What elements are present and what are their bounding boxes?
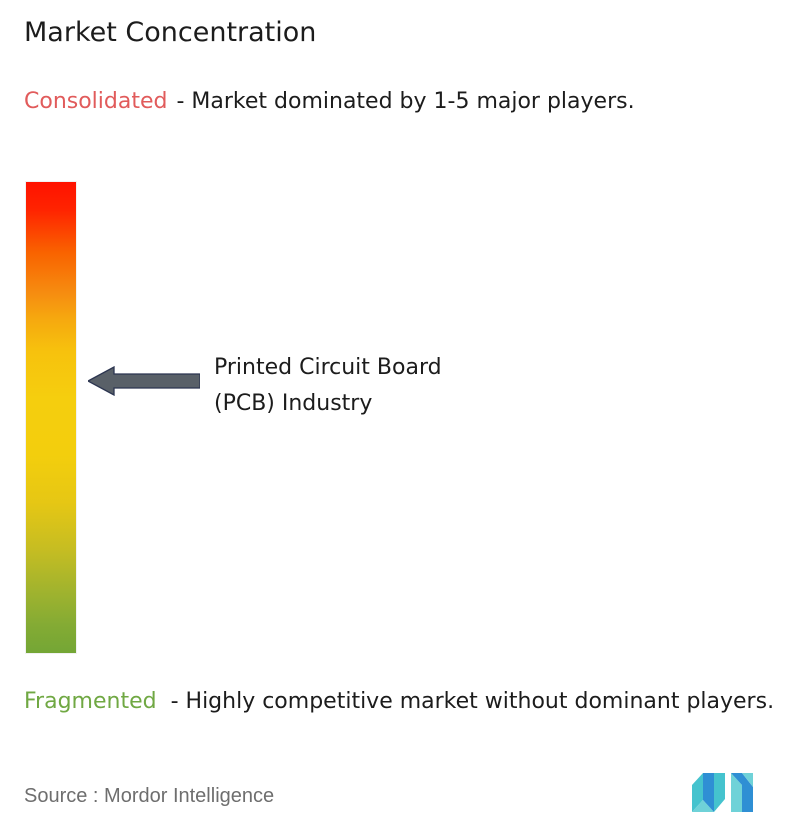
mordor-intelligence-logo-icon bbox=[690, 771, 756, 815]
marker-label-line2: (PCB) Industry bbox=[214, 386, 644, 422]
consolidated-description: - Market dominated by 1-5 major players. bbox=[176, 89, 634, 114]
left-arrow-icon bbox=[88, 366, 200, 396]
marker-label-line1: Printed Circuit Board bbox=[214, 350, 644, 386]
marker-label: Printed Circuit Board (PCB) Industry bbox=[214, 350, 644, 422]
fragmented-description: - Highly competitive market without domi… bbox=[171, 689, 774, 714]
market-concentration-gradient-bar bbox=[26, 182, 76, 653]
consolidated-caption: Consolidated- Market dominated by 1-5 ma… bbox=[24, 86, 780, 117]
consolidated-keyword: Consolidated bbox=[24, 89, 167, 114]
page-title: Market Concentration bbox=[24, 16, 316, 50]
fragmented-caption: Fragmented- Highly competitive market wi… bbox=[24, 686, 790, 717]
fragmented-keyword: Fragmented bbox=[24, 689, 157, 714]
source-note: Source : Mordor Intelligence bbox=[24, 783, 274, 809]
